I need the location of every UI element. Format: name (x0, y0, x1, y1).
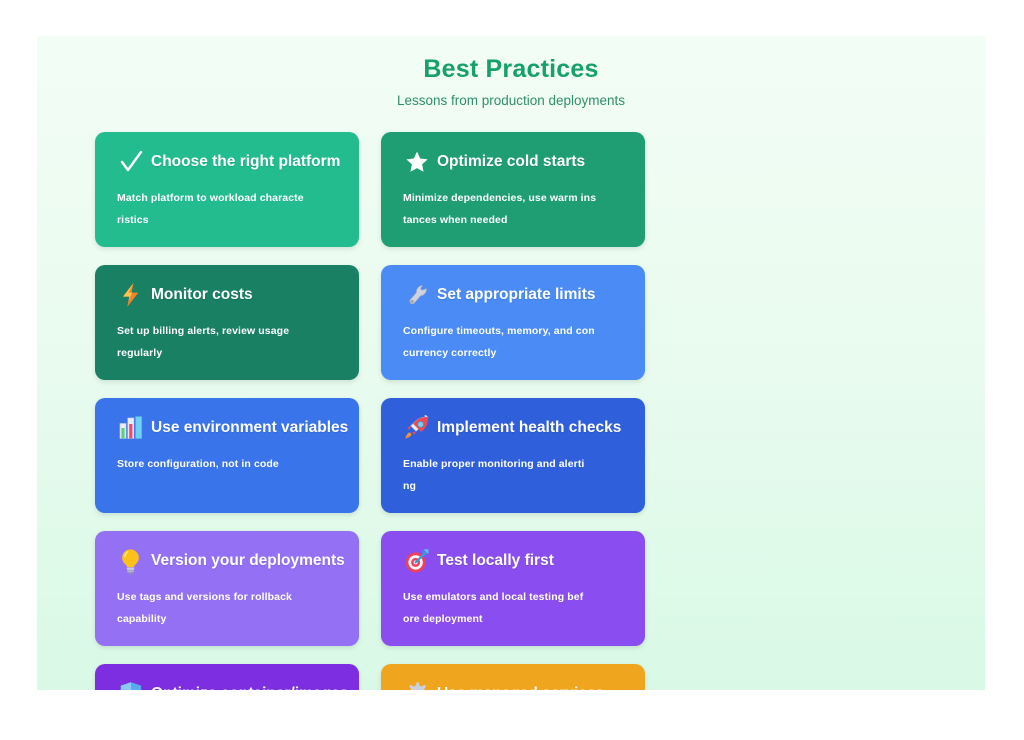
practice-card-description: Configure timeouts, memory, and concurre… (397, 321, 629, 364)
practice-card[interactable]: Optimize container/imagesSmaller images … (95, 664, 359, 690)
practice-card[interactable]: Set appropriate limitsConfigure timeouts… (381, 265, 645, 380)
practice-card-title: Implement health checks (437, 419, 621, 437)
practice-card-description-line: ristics (117, 210, 343, 232)
practice-card[interactable]: Monitor costsSet up billing alerts, revi… (95, 265, 359, 380)
practice-card-description-line: Configure timeouts, memory, and con (403, 321, 629, 343)
practice-card-title: Optimize container/images (151, 685, 348, 690)
practice-card-description-line: Match platform to workload characte (117, 188, 343, 210)
practice-card-description-line: Enable proper monitoring and alerti (403, 454, 629, 476)
practice-card-head: Use managed services (397, 680, 629, 690)
practice-card-head: Monitor costs (111, 281, 343, 309)
practice-card-description: Match platform to workload characteristi… (111, 188, 343, 231)
practice-card-description-line: Use tags and versions for rollback (117, 587, 343, 609)
practice-card-description-line: regularly (117, 343, 343, 365)
practice-card-description-line: tances when needed (403, 210, 629, 232)
practice-card[interactable]: Optimize cold startsMinimize dependencie… (381, 132, 645, 247)
practice-card-description: Minimize dependencies, use warm instance… (397, 188, 629, 231)
practice-card-head: Optimize container/images (111, 680, 343, 690)
dart-target-icon (403, 548, 430, 575)
wrench-icon (403, 282, 430, 309)
practice-card[interactable]: Use environment variablesStore configura… (95, 398, 359, 513)
page-title: Best Practices (37, 54, 985, 84)
practice-card-description-line: Store configuration, not in code (117, 454, 343, 476)
practice-card[interactable]: Implement health checksEnable proper mon… (381, 398, 645, 513)
practice-card-head: Implement health checks (397, 414, 629, 442)
practice-card-head: Set appropriate limits (397, 281, 629, 309)
practice-card-description: Set up billing alerts, review usageregul… (111, 321, 343, 364)
check-mark-icon (117, 149, 144, 176)
practice-card-title: Use managed services (437, 685, 604, 690)
gear-icon (403, 681, 430, 691)
practice-card[interactable]: Use managed servicesLeverage GCP service… (381, 664, 645, 690)
practice-card-title: Choose the right platform (151, 153, 340, 171)
practice-card-head: Test locally first (397, 547, 629, 575)
practice-card-description-line: ore deployment (403, 609, 629, 631)
high-voltage-icon (117, 282, 144, 309)
practice-card-head: Choose the right platform (111, 148, 343, 176)
rocket-icon (403, 415, 430, 442)
practice-card-head: Optimize cold starts (397, 148, 629, 176)
practice-card-description-line: Set up billing alerts, review usage (117, 321, 343, 343)
practice-card-title: Monitor costs (151, 286, 253, 304)
bar-chart-icon (117, 415, 144, 442)
practice-card-title: Use environment variables (151, 419, 348, 437)
slide-panel: Best Practices Lessons from production d… (37, 36, 985, 690)
practice-card-description-line: currency correctly (403, 343, 629, 365)
practice-card-description-line: ng (403, 476, 629, 498)
light-bulb-icon (117, 548, 144, 575)
page-subtitle: Lessons from production deployments (37, 93, 985, 109)
best-practices-grid: Choose the right platformMatch platform … (95, 132, 927, 690)
star-icon (403, 149, 430, 176)
practice-card-head: Version your deployments (111, 547, 343, 575)
practice-card-head: Use environment variables (111, 414, 343, 442)
practice-card-description: Use emulators and local testing before d… (397, 587, 629, 630)
practice-card[interactable]: Choose the right platformMatch platform … (95, 132, 359, 247)
practice-card[interactable]: Test locally firstUse emulators and loca… (381, 531, 645, 646)
practice-card-title: Set appropriate limits (437, 286, 595, 304)
practice-card-title: Version your deployments (151, 552, 345, 570)
practice-card-description-line: capability (117, 609, 343, 631)
practice-card-description-line: Use emulators and local testing bef (403, 587, 629, 609)
shield-icon (117, 681, 144, 691)
practice-card[interactable]: Version your deploymentsUse tags and ver… (95, 531, 359, 646)
practice-card-description: Use tags and versions for rollbackcapabi… (111, 587, 343, 630)
practice-card-title: Test locally first (437, 552, 554, 570)
slide-header: Best Practices Lessons from production d… (37, 36, 985, 109)
practice-card-description: Store configuration, not in code (111, 454, 343, 476)
practice-card-title: Optimize cold starts (437, 153, 585, 171)
practice-card-description-line: Minimize dependencies, use warm ins (403, 188, 629, 210)
practice-card-description: Enable proper monitoring and alerting (397, 454, 629, 497)
